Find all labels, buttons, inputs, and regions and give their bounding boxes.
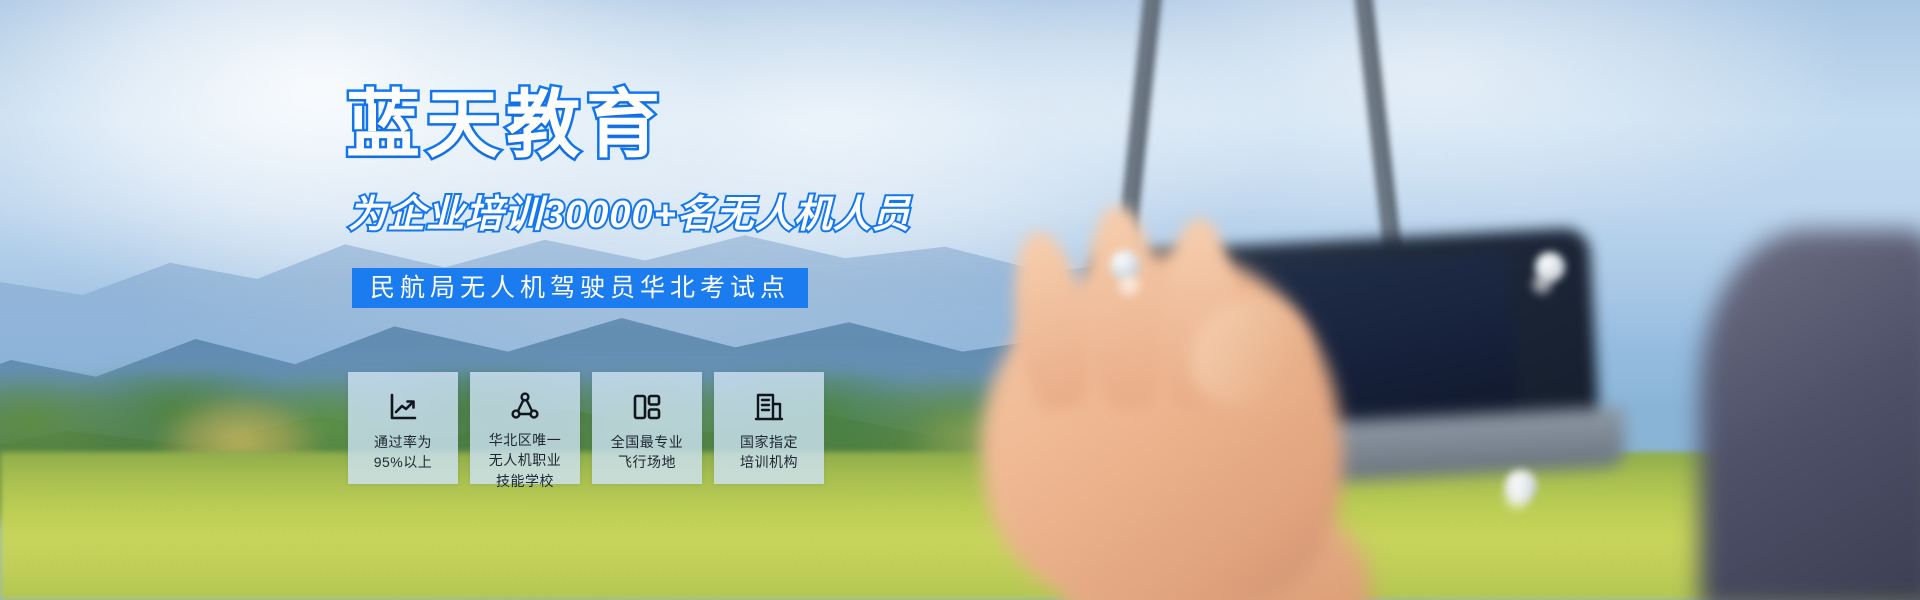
feature-card-list: 通过率为 95%以上 华北区唯一 无人机职业 技能学校 <box>348 372 824 484</box>
feature-card-label: 国家指定 培训机构 <box>740 432 798 473</box>
network-node-icon <box>508 390 542 422</box>
feature-card-label: 通过率为 95%以上 <box>374 432 433 473</box>
building-icon <box>752 390 786 424</box>
banner-headline: 蓝天教育 <box>346 88 666 162</box>
feature-card-unique-school[interactable]: 华北区唯一 无人机职业 技能学校 <box>470 372 580 484</box>
layout-panels-icon <box>630 390 664 424</box>
feature-card-flight-field[interactable]: 全国最专业 飞行场地 <box>592 372 702 484</box>
certification-badge-label: 民航局无人机驾驶员华北考试点 <box>370 276 790 301</box>
certification-badge: 民航局无人机驾驶员华北考试点 <box>352 268 808 308</box>
banner-content: 蓝天教育 为企业培训30000+名无人机人员 民航局无人机驾驶员华北考试点 通过… <box>0 0 1920 600</box>
feature-card-label: 华北区唯一 无人机职业 技能学校 <box>489 430 562 491</box>
feature-card-label: 全国最专业 飞行场地 <box>611 432 684 473</box>
promo-banner: 蓝天教育 为企业培训30000+名无人机人员 民航局无人机驾驶员华北考试点 通过… <box>0 0 1920 600</box>
chart-growth-icon <box>386 390 420 424</box>
banner-subheadline: 为企业培训30000+名无人机人员 <box>348 196 911 234</box>
feature-card-pass-rate[interactable]: 通过率为 95%以上 <box>348 372 458 484</box>
feature-card-national-institution[interactable]: 国家指定 培训机构 <box>714 372 824 484</box>
